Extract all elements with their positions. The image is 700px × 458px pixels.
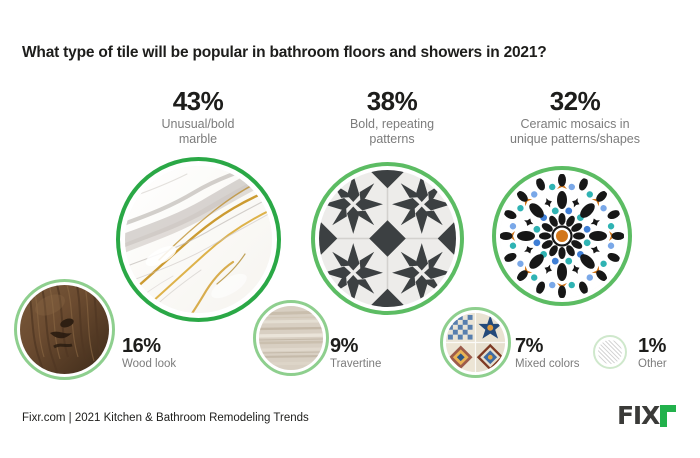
- patchwork-tile-texture: [446, 313, 505, 372]
- bubble-mosaics-label: 32% Ceramic mosaics in unique patterns/s…: [480, 88, 670, 147]
- source-caption: Fixr.com | 2021 Kitchen & Bathroom Remod…: [22, 412, 309, 424]
- bubble-other-caption-1: Other: [638, 358, 698, 372]
- hatch-texture: [598, 340, 622, 364]
- bubble-wood-image: [20, 285, 109, 374]
- travertine-stone-texture: [259, 306, 323, 370]
- r-mark-icon: [660, 405, 676, 427]
- bubble-wood-percent: 16%: [122, 336, 242, 357]
- bubble-other-percent: 1%: [638, 336, 698, 357]
- bubble-marble-percent: 43%: [118, 88, 278, 116]
- bubble-other-label: 1% Other: [638, 336, 698, 372]
- bubble-other-image: [598, 340, 622, 364]
- bubble-mosaics-caption-1: Ceramic mosaics in: [480, 117, 670, 132]
- page-title: What type of tile will be popular in bat…: [22, 44, 547, 62]
- infographic-canvas: What type of tile will be popular in bat…: [0, 0, 700, 458]
- bubble-mixed-image: [446, 313, 505, 372]
- bubble-patterns-percent: 38%: [312, 88, 472, 116]
- bubble-marble-caption-2: marble: [118, 132, 278, 147]
- bubble-wood-caption-1: Wood look: [122, 358, 242, 372]
- bubble-patterns-caption-2: patterns: [312, 132, 472, 147]
- geometric-star-tile-texture: [319, 170, 456, 307]
- bubble-patterns-image: [319, 170, 456, 307]
- fixr-logo-text: FIX: [617, 404, 659, 428]
- bubble-marble-caption-1: Unusual/bold: [118, 117, 278, 132]
- bubble-travertine-label: 9% Travertine: [330, 336, 450, 372]
- marble-texture: [125, 166, 272, 313]
- bubble-marble-image: [125, 166, 272, 313]
- bubble-mosaics-percent: 32%: [480, 88, 670, 116]
- moorish-mosaic-texture: [500, 174, 624, 298]
- fixr-logo: FIX: [617, 404, 676, 428]
- bubble-travertine-caption-1: Travertine: [330, 358, 450, 372]
- bubble-mosaics-image: [500, 174, 624, 298]
- bubble-patterns-caption-1: Bold, repeating: [312, 117, 472, 132]
- bubble-mosaics-caption-2: unique patterns/shapes: [480, 132, 670, 147]
- bubble-travertine-percent: 9%: [330, 336, 450, 357]
- bubble-patterns-label: 38% Bold, repeating patterns: [312, 88, 472, 147]
- bubble-travertine-image: [259, 306, 323, 370]
- bubble-wood-label: 16% Wood look: [122, 336, 242, 372]
- bubble-marble-label: 43% Unusual/bold marble: [118, 88, 278, 147]
- wood-grain-texture: [20, 285, 109, 374]
